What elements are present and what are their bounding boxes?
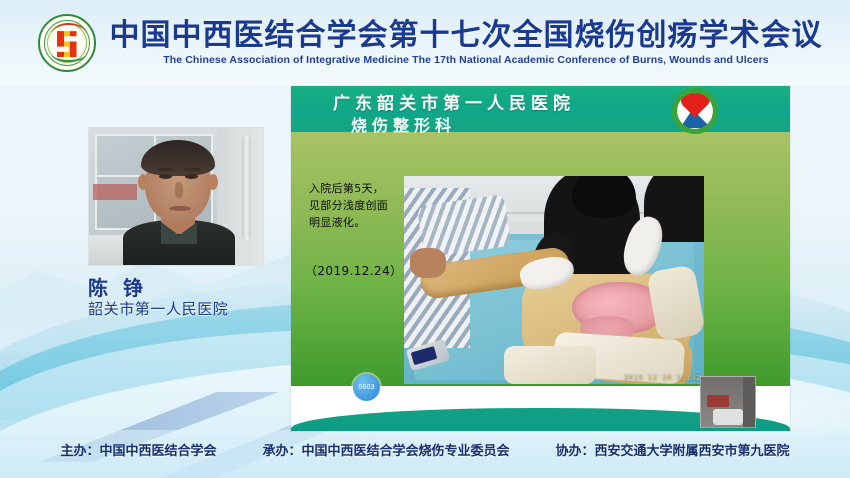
webcam-pipe	[242, 136, 251, 240]
speaker-webcam-video[interactable]	[88, 127, 264, 266]
secondary-camera-thumbnail[interactable]	[700, 376, 756, 428]
speaker-name: 陈 铮	[88, 272, 288, 301]
speaker-mouth	[169, 206, 191, 211]
caim-emblem-icon	[38, 14, 96, 72]
conference-title-block: 中国中西医结合学会第十七次全国烧伤创疡学术会议 The Chinese Asso…	[110, 20, 823, 67]
speaker-brow-left	[157, 168, 173, 171]
clinical-photo: 2019 12 24 11:42	[404, 176, 704, 384]
slide-hospital-name-line2: 烧伤整形科	[351, 112, 456, 136]
speaker-organization: 韶关市第一人民医院	[88, 298, 318, 319]
photo-gauze-3	[504, 346, 596, 384]
photo-assisting-hand	[410, 248, 446, 278]
heart-hands-hospital-icon	[672, 88, 718, 134]
speaker-brow-right	[184, 168, 200, 171]
speaker-eye-left	[159, 174, 172, 179]
slide-date-text: （2019.12.24）	[305, 262, 403, 279]
conference-header: 中国中西医结合学会第十七次全国烧伤创疡学术会议 The Chinese Asso…	[0, 0, 850, 86]
presentation-slide[interactable]: 广东韶关市第一人民医院 烧伤整形科 入院后第5天， 见部分浅度创面 明显液化。 …	[291, 86, 790, 431]
footer-item-coorganizer: 协办：西安交通大学附属西安市第九医院	[556, 440, 790, 459]
photo-clinician-1-hair	[572, 176, 636, 218]
speaker-ear-right	[208, 174, 218, 190]
slide-hospital-name-line1: 广东韶关市第一人民医院	[333, 89, 575, 114]
conference-title-cn: 中国中西医结合学会第十七次全国烧伤创疡学术会议	[110, 20, 823, 52]
speaker-eye-right	[185, 174, 198, 179]
speaker-ear-left	[138, 174, 148, 190]
photo-timestamp: 2019 12 24 11:42	[624, 374, 701, 382]
webcam-red-object	[93, 184, 137, 200]
footer-item-host: 主办：中国中西医结合学会	[60, 440, 216, 459]
slide-body-text: 入院后第5天， 见部分浅度创面 明显液化。	[309, 180, 388, 231]
organizers-footer: 主办：中国中西医结合学会 承办：中国中西医结合学会烧伤专业委员会 协办：西安交通…	[0, 440, 850, 459]
footer-item-organizer: 承办：中国中西医结合学会烧伤专业委员会	[262, 440, 509, 459]
status-badge[interactable]: 0503	[353, 374, 380, 401]
speaker-nose	[175, 182, 183, 198]
conference-title-en: The Chinese Association of Integrative M…	[110, 54, 823, 66]
